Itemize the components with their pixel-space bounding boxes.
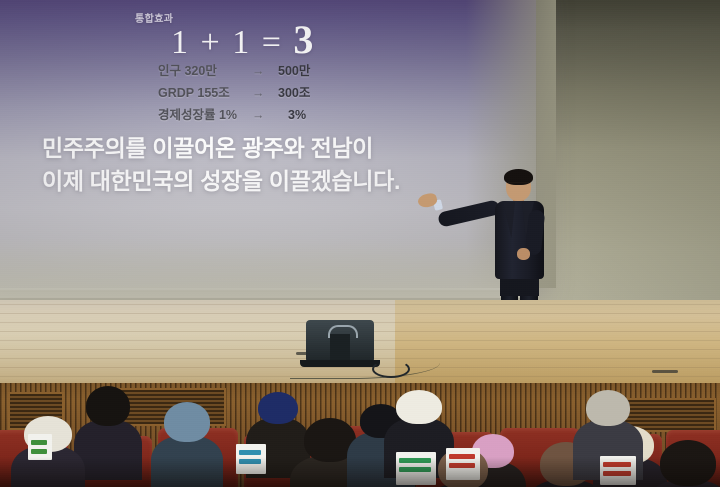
floor-mark-far-right xyxy=(652,370,678,373)
floor-plank xyxy=(0,313,720,314)
cable-coil xyxy=(372,360,410,378)
glasses-icon xyxy=(508,182,529,188)
case-strap xyxy=(330,334,350,363)
auditorium-photo: 통합효과 1 + 1 = 3 인구 320만 → 500만 GRDP 155조 … xyxy=(0,0,720,487)
leaflet-print xyxy=(31,449,47,454)
audience-member-gray-hair xyxy=(586,390,630,426)
leaflet-print xyxy=(31,440,47,445)
leaflet-center xyxy=(396,452,436,485)
leaflet-print xyxy=(603,471,631,476)
leaflet-print xyxy=(449,463,475,468)
projection-bottom-fade xyxy=(0,238,537,298)
leaflet-print xyxy=(239,459,261,464)
audience-member-dark-hair-left xyxy=(86,386,130,426)
audience-member-blue-cap xyxy=(164,402,210,442)
audience-member-blue-cap-shoulders xyxy=(151,436,223,487)
audience-member-white-cap-right xyxy=(396,390,442,424)
leaflet-print xyxy=(239,450,261,455)
leaflet-center-left xyxy=(236,444,266,474)
case-base xyxy=(300,360,380,367)
leaflet-print xyxy=(399,458,431,463)
projection-screen: 통합효과 1 + 1 = 3 인구 320만 → 500만 GRDP 155조 … xyxy=(0,0,536,290)
projector-case xyxy=(306,320,374,363)
leaflet-print xyxy=(603,462,631,467)
audience xyxy=(0,378,720,487)
leaflet-left xyxy=(28,434,52,460)
leaflet-center-right xyxy=(446,448,480,480)
leaflet-print xyxy=(449,454,475,459)
floor-plank xyxy=(0,304,720,305)
speaker-resting-hand xyxy=(517,248,530,260)
audience-member-curly-right xyxy=(660,440,716,486)
audience-member-navy-beanie xyxy=(258,392,298,424)
leaflet-right xyxy=(600,456,636,485)
leaflet-print xyxy=(399,467,431,472)
